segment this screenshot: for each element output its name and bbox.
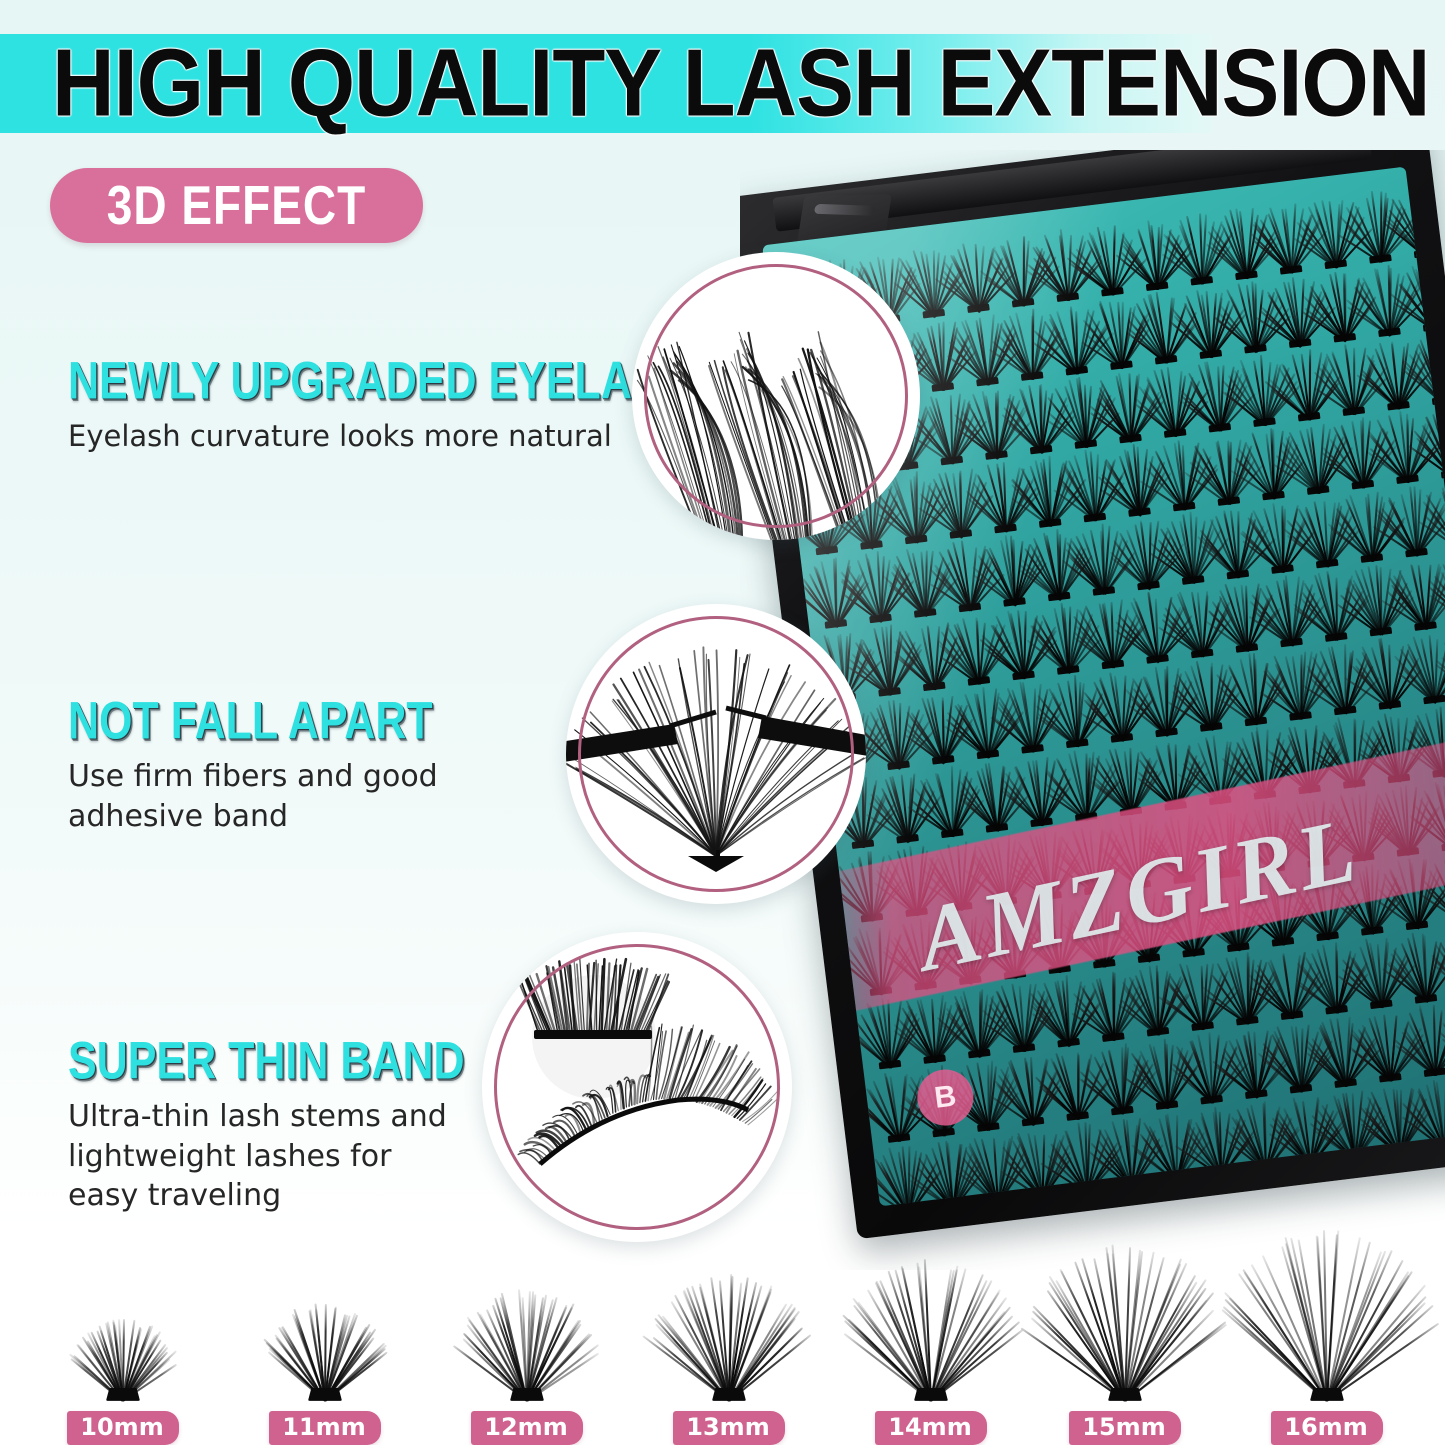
lash-cluster bbox=[977, 464, 1027, 535]
lash-row bbox=[809, 548, 1445, 704]
lash-cluster bbox=[1183, 662, 1233, 733]
lash-cluster bbox=[906, 622, 956, 693]
callout-lash-curvature-closeup bbox=[632, 252, 920, 540]
brand-name: AMZGIRL bbox=[908, 756, 1445, 993]
callout-thin-band-and-lash-strip bbox=[482, 932, 792, 1242]
lash-cluster bbox=[1397, 561, 1445, 632]
lash-cluster bbox=[1022, 458, 1072, 529]
lash-cluster bbox=[1263, 578, 1313, 649]
lash-cluster-sample bbox=[856, 1273, 1006, 1401]
lash-cluster bbox=[1245, 431, 1295, 502]
lash-cluster bbox=[880, 1147, 930, 1206]
lash-cluster bbox=[1040, 978, 1090, 1049]
lash-cluster bbox=[1219, 956, 1269, 1027]
lash-cluster bbox=[888, 848, 938, 919]
lash-cluster bbox=[1326, 719, 1376, 790]
tray-row-badge-b: B bbox=[914, 1066, 976, 1128]
lash-cluster bbox=[1433, 483, 1445, 554]
size-sample: 10mm bbox=[48, 1329, 198, 1445]
lash-cluster bbox=[906, 994, 956, 1065]
size-sample: 15mm bbox=[1050, 1259, 1200, 1445]
lash-cluster bbox=[1031, 905, 1081, 976]
lash-cluster bbox=[1066, 453, 1116, 524]
lash-cluster bbox=[950, 616, 1000, 687]
lash-cluster bbox=[1308, 945, 1358, 1016]
lash-cluster bbox=[1165, 888, 1215, 959]
lash-cluster bbox=[1281, 725, 1331, 796]
lash-cluster bbox=[1022, 831, 1072, 902]
lash-cluster bbox=[1254, 877, 1304, 948]
lash-cluster bbox=[870, 701, 920, 772]
lash-cluster bbox=[1379, 415, 1429, 486]
lash-cluster bbox=[1227, 657, 1277, 728]
lash-cluster bbox=[861, 1000, 911, 1071]
lash-cluster bbox=[1183, 1035, 1233, 1106]
lash-cluster bbox=[1094, 1046, 1144, 1117]
lash-cluster bbox=[1236, 730, 1286, 801]
lash-cluster bbox=[1361, 268, 1411, 339]
lash-cluster bbox=[1353, 940, 1403, 1011]
lash-cluster bbox=[959, 317, 1009, 388]
lash-cluster bbox=[1129, 222, 1179, 293]
lash-cluster bbox=[942, 916, 992, 987]
lash-cluster bbox=[1004, 312, 1054, 383]
lash-cluster bbox=[1085, 973, 1135, 1044]
lash-cluster-sample bbox=[48, 1329, 198, 1401]
lash-cluster bbox=[1316, 273, 1366, 344]
lash-cluster bbox=[1343, 493, 1393, 564]
lash-cluster bbox=[1281, 352, 1331, 423]
lash-cluster bbox=[1272, 279, 1322, 350]
tweezer-pull-icon bbox=[566, 604, 866, 904]
lash-cluster bbox=[1245, 804, 1295, 875]
feature-body: Use firm fibers and good adhesive band bbox=[68, 757, 548, 836]
lash-cluster bbox=[1308, 572, 1358, 643]
badge-3d-effect-label: 3D EFFECT bbox=[50, 161, 423, 250]
lash-cluster bbox=[1182, 290, 1232, 361]
lash-cluster bbox=[1227, 284, 1277, 355]
lash-cluster bbox=[1299, 872, 1349, 943]
lash-row bbox=[818, 621, 1445, 777]
size-sample: 12mm bbox=[452, 1301, 602, 1445]
feature-heading: NEWLY UPGRADED EYELASHES bbox=[68, 352, 628, 412]
lash-cluster bbox=[1335, 793, 1385, 864]
lash-cluster bbox=[1388, 861, 1438, 932]
lash-cluster bbox=[1013, 385, 1063, 456]
lash-cluster bbox=[1218, 583, 1268, 654]
lash-cluster bbox=[995, 984, 1045, 1055]
lash-cluster bbox=[915, 695, 965, 766]
lash-cluster bbox=[914, 322, 964, 393]
thin-band-lash-strip-icon bbox=[482, 932, 792, 1242]
feature-heading: NOT FALL APART bbox=[68, 692, 548, 752]
lash-cluster bbox=[968, 390, 1018, 461]
feature-body: Eyelash curvature looks more natural bbox=[68, 417, 628, 455]
tweezer-right bbox=[726, 708, 866, 756]
lash-cluster bbox=[951, 989, 1001, 1060]
lash-cluster bbox=[879, 774, 929, 845]
lash-cluster bbox=[1379, 787, 1429, 858]
feature-body: Ultra-thin lash stems and lightweight la… bbox=[68, 1097, 468, 1216]
lash-cluster bbox=[1344, 866, 1394, 937]
size-sample: 13mm bbox=[654, 1287, 804, 1445]
lash-cluster bbox=[1147, 369, 1197, 440]
lash-cluster bbox=[1147, 741, 1197, 812]
lash-cluster bbox=[1111, 447, 1161, 518]
lash-cluster bbox=[1200, 436, 1250, 507]
lash-cluster bbox=[1317, 1019, 1367, 1090]
lash-cluster bbox=[1406, 635, 1445, 706]
lash-cluster bbox=[1361, 640, 1411, 711]
size-tag: 10mm bbox=[67, 1411, 178, 1445]
lash-cluster bbox=[1272, 651, 1322, 722]
lash-cluster bbox=[1397, 934, 1445, 1005]
lash-cluster bbox=[1057, 379, 1107, 450]
callout-tweezer-pull-test bbox=[566, 604, 866, 904]
lash-cluster bbox=[1209, 510, 1259, 581]
lash-cluster bbox=[1236, 358, 1286, 429]
lash-cluster bbox=[1031, 532, 1081, 603]
lash-cluster bbox=[1290, 798, 1340, 869]
lash-cluster-sample bbox=[1252, 1245, 1402, 1401]
lash-cluster bbox=[1165, 515, 1215, 586]
lash-cluster bbox=[1049, 679, 1099, 750]
size-tag: 14mm bbox=[875, 1411, 986, 1445]
lash-cluster bbox=[1201, 809, 1251, 880]
size-sample: 14mm bbox=[856, 1273, 1006, 1445]
lash-cluster bbox=[1102, 374, 1152, 445]
lash-cluster bbox=[897, 921, 947, 992]
lash-cluster bbox=[1192, 736, 1242, 807]
lash-cluster bbox=[1129, 594, 1179, 665]
lash-cluster bbox=[897, 548, 947, 619]
lash-row bbox=[863, 988, 1445, 1144]
lash-cluster bbox=[1004, 1057, 1054, 1128]
size-sample-row: 10mm11mm12mm13mm14mm15mm16mm bbox=[0, 1215, 1445, 1445]
lash-cluster bbox=[1191, 363, 1241, 434]
lash-cluster bbox=[1210, 883, 1260, 954]
lash-curvature-icon bbox=[632, 252, 920, 540]
size-tag: 15mm bbox=[1069, 1411, 1180, 1445]
lash-cluster bbox=[1325, 347, 1375, 418]
lash-cluster bbox=[1120, 894, 1170, 965]
size-sample: 11mm bbox=[250, 1315, 400, 1445]
lash-cluster bbox=[986, 537, 1036, 608]
product-infographic: HIGH QUALITY LASH EXTENSION 3D EFFECT NE… bbox=[0, 0, 1445, 1445]
lash-cluster bbox=[1058, 752, 1108, 823]
lash-cluster bbox=[1218, 211, 1268, 282]
lash-cluster-sample bbox=[1050, 1259, 1200, 1401]
size-tag: 16mm bbox=[1271, 1411, 1382, 1445]
lash-cluster bbox=[1173, 216, 1223, 287]
lash-cluster bbox=[1307, 200, 1357, 271]
lash-cluster bbox=[1156, 815, 1206, 886]
size-tag: 11mm bbox=[269, 1411, 380, 1445]
lash-cluster bbox=[1352, 194, 1402, 265]
lash-cluster bbox=[1084, 600, 1134, 671]
lash-cluster bbox=[1093, 673, 1143, 744]
lash-cluster-sample bbox=[654, 1287, 804, 1401]
lash-cluster bbox=[1111, 820, 1161, 891]
lash-cluster bbox=[1129, 967, 1179, 1038]
page-title: HIGH QUALITY LASH EXTENSION bbox=[52, 28, 1174, 139]
lash-cluster bbox=[1299, 499, 1349, 570]
lash-cluster bbox=[1263, 205, 1313, 276]
brand-brushstroke bbox=[795, 718, 1445, 1017]
badge-3d-effect: 3D EFFECT bbox=[50, 168, 423, 243]
lash-cluster bbox=[1174, 589, 1224, 660]
lash-cluster bbox=[1120, 521, 1170, 592]
lash-cluster bbox=[933, 842, 983, 913]
lash-cluster bbox=[923, 396, 973, 467]
lash-cluster bbox=[960, 1062, 1010, 1133]
size-sample: 16mm bbox=[1252, 1245, 1402, 1445]
lash-cluster bbox=[1039, 233, 1089, 304]
lash-cluster bbox=[924, 769, 974, 840]
lash-cluster bbox=[995, 611, 1045, 682]
lash-cluster bbox=[1084, 227, 1134, 298]
lash-cluster bbox=[915, 1068, 965, 1139]
lash-cluster bbox=[977, 837, 1027, 908]
lash-cluster bbox=[932, 469, 982, 540]
lash-cluster bbox=[941, 543, 991, 614]
lash-cluster bbox=[1138, 1041, 1188, 1112]
lash-cluster bbox=[1174, 962, 1224, 1033]
lash-cluster-sample bbox=[452, 1301, 602, 1401]
lash-cluster bbox=[1156, 442, 1206, 513]
lash-cluster bbox=[1228, 1030, 1278, 1101]
lash-cluster bbox=[1067, 826, 1117, 897]
lash-cluster bbox=[968, 763, 1018, 834]
lash-cluster bbox=[1040, 605, 1090, 676]
lash-cluster bbox=[1406, 1008, 1445, 1079]
lash-cluster bbox=[1138, 295, 1188, 366]
lash-cluster bbox=[1263, 951, 1313, 1022]
tray-hinge-gloss bbox=[814, 204, 876, 216]
lash-row bbox=[854, 915, 1445, 1071]
lash-cluster bbox=[1370, 714, 1420, 785]
lash-cluster bbox=[1370, 341, 1420, 412]
lash-cluster bbox=[1424, 782, 1445, 853]
lash-cluster bbox=[871, 1073, 921, 1144]
lash-cluster bbox=[1254, 504, 1304, 575]
size-tag: 13mm bbox=[673, 1411, 784, 1445]
lash-row bbox=[827, 695, 1445, 851]
lash-cluster bbox=[950, 244, 1000, 315]
lash-cluster bbox=[1076, 899, 1126, 970]
lash-cluster bbox=[1433, 855, 1445, 926]
lash-cluster bbox=[986, 910, 1036, 981]
lash-cluster bbox=[959, 690, 1009, 761]
lash-cluster bbox=[1004, 684, 1054, 755]
lash-cluster bbox=[1362, 1013, 1412, 1084]
lash-cluster bbox=[1388, 488, 1438, 559]
lash-cluster bbox=[1048, 306, 1098, 377]
lash-cluster bbox=[1352, 567, 1402, 638]
feature-block-not-fall-apart: NOT FALL APART Use firm fibers and good … bbox=[68, 692, 548, 836]
lash-cluster bbox=[1290, 426, 1340, 497]
lash-cluster bbox=[1272, 1024, 1322, 1095]
feature-heading: SUPER THIN BAND bbox=[68, 1032, 468, 1092]
lash-cluster bbox=[1415, 708, 1445, 779]
lash-cluster bbox=[1093, 301, 1143, 372]
lash-cluster bbox=[995, 238, 1045, 309]
lash-cluster bbox=[852, 927, 902, 998]
feature-block-newly-upgraded: NEWLY UPGRADED EYELASHES Eyelash curvatu… bbox=[68, 352, 628, 455]
lash-cluster bbox=[1138, 668, 1188, 739]
lash-cluster bbox=[1334, 420, 1384, 491]
lash-cluster bbox=[1075, 526, 1125, 597]
lash-cluster bbox=[1013, 758, 1063, 829]
feature-block-super-thin-band: SUPER THIN BAND Ultra-thin lash stems an… bbox=[68, 1032, 468, 1216]
lash-row bbox=[836, 768, 1445, 924]
lash-cluster bbox=[1317, 646, 1367, 717]
lash-cluster bbox=[1049, 1051, 1099, 1122]
lash-cluster bbox=[1102, 747, 1152, 818]
lash-row bbox=[845, 841, 1445, 997]
lash-cluster-sample bbox=[250, 1315, 400, 1401]
size-tag: 12mm bbox=[471, 1411, 582, 1445]
lash-cluster bbox=[861, 627, 911, 698]
tweezer-left bbox=[566, 712, 716, 762]
